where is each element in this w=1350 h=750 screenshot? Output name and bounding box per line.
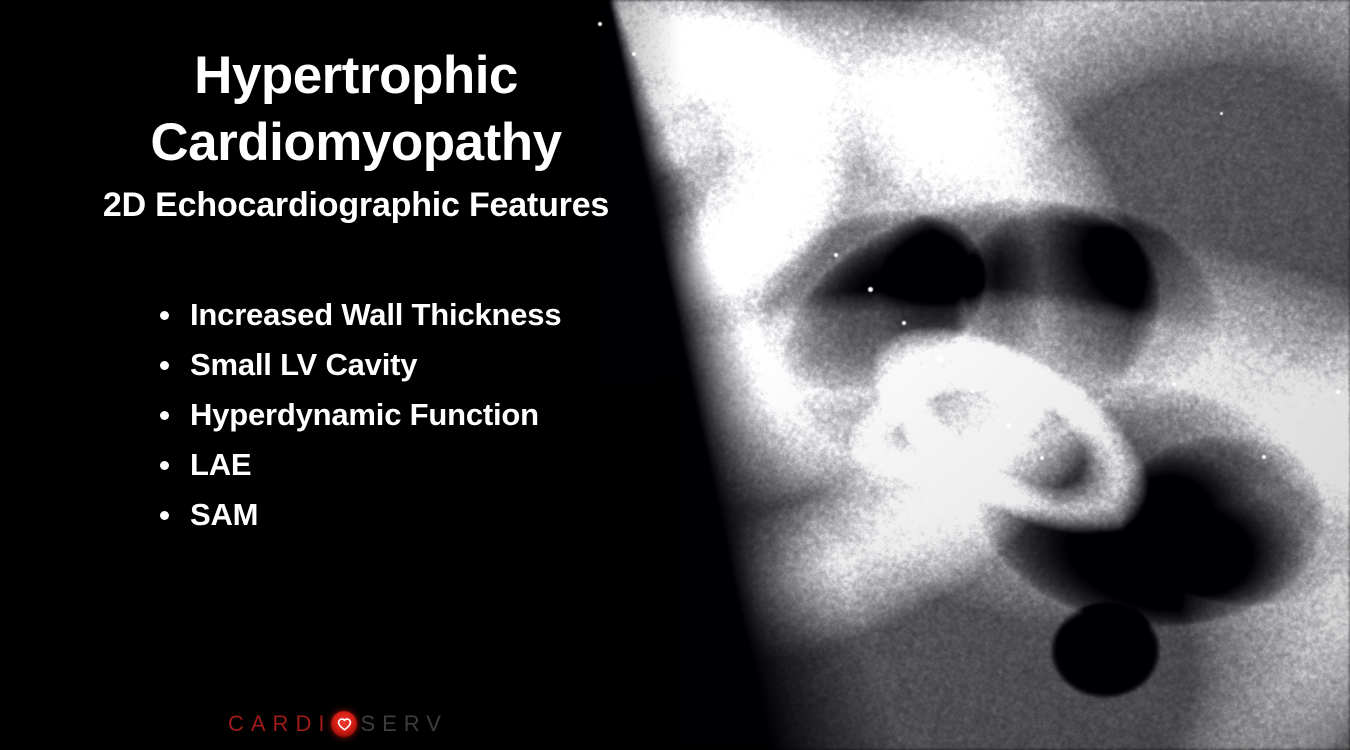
bullet-point-icon bbox=[160, 411, 169, 420]
list-item: Increased Wall Thickness bbox=[156, 294, 561, 344]
title-line-1: Hypertrophic bbox=[0, 42, 712, 109]
list-item-label: LAE bbox=[190, 447, 251, 482]
feature-bullet-list: Increased Wall Thickness Small LV Cavity… bbox=[156, 294, 561, 544]
bullet-point-icon bbox=[160, 311, 169, 320]
text-overlay-panel: Hypertrophic Cardiomyopathy 2D Echocardi… bbox=[0, 0, 720, 750]
list-item: SAM bbox=[156, 494, 561, 544]
list-item: Small LV Cavity bbox=[156, 344, 561, 394]
bullet-point-icon bbox=[160, 361, 169, 370]
heart-icon bbox=[331, 711, 357, 737]
title-line-2: Cardiomyopathy bbox=[0, 109, 712, 176]
list-item-label: Increased Wall Thickness bbox=[190, 297, 561, 332]
list-item-label: Small LV Cavity bbox=[190, 347, 417, 382]
brand-logo: CARDI SERV bbox=[228, 708, 448, 740]
logo-word-cardi: CARDI bbox=[228, 708, 331, 740]
list-item: Hyperdynamic Function bbox=[156, 394, 561, 444]
logo-word-serv: SERV bbox=[360, 708, 448, 740]
page-subtitle: 2D Echocardiographic Features bbox=[0, 183, 712, 227]
page-title: Hypertrophic Cardiomyopathy bbox=[0, 42, 712, 176]
slide-canvas: P Hypertrophic bbox=[0, 0, 1350, 750]
list-item-label: Hyperdynamic Function bbox=[190, 397, 539, 432]
bullet-point-icon bbox=[160, 511, 169, 520]
list-item: LAE bbox=[156, 444, 561, 494]
bullet-point-icon bbox=[160, 461, 169, 470]
list-item-label: SAM bbox=[190, 497, 258, 532]
